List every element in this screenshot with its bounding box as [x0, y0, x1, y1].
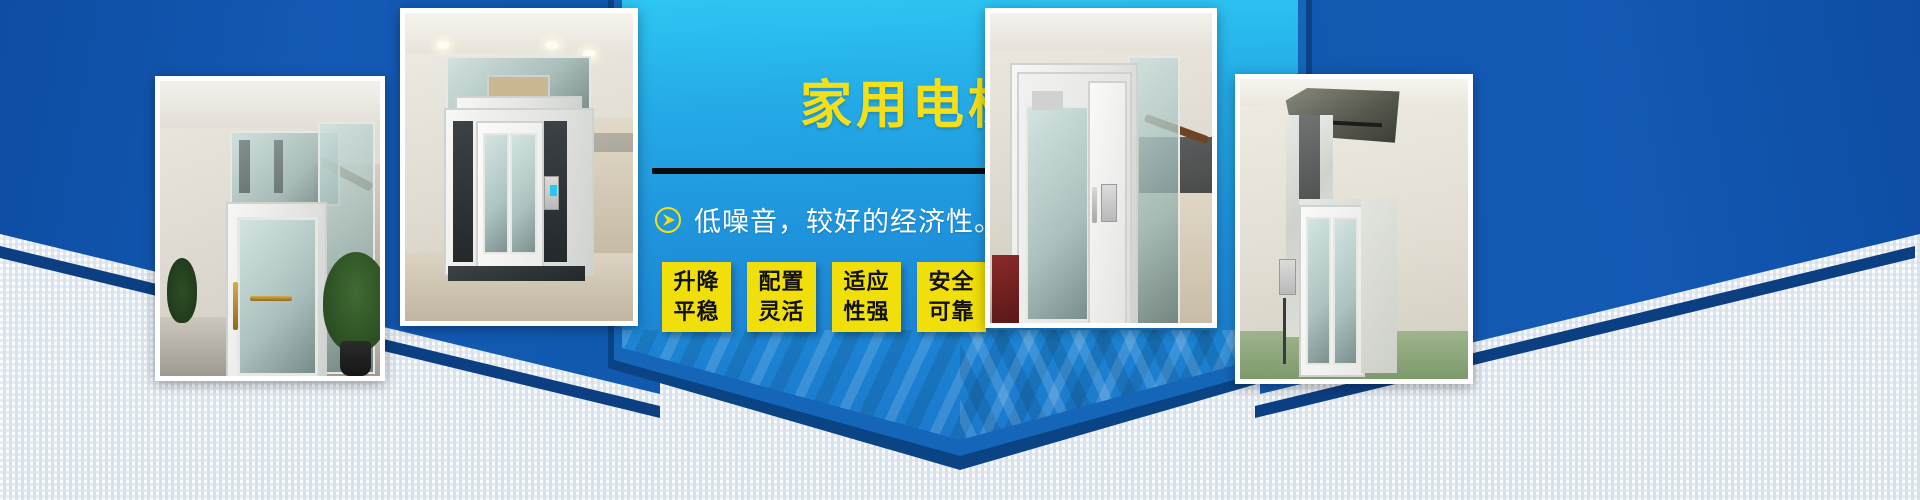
feature-tag-line1: 配置 [758, 267, 804, 297]
title-divider [652, 168, 1018, 174]
product-photo-3[interactable] [985, 8, 1217, 328]
feature-tag-line2: 平稳 [673, 297, 719, 327]
subtitle-text: 低噪音，较好的经济性。 [694, 200, 1002, 239]
feature-tag[interactable]: 安全 可靠 [917, 262, 986, 332]
feature-tag[interactable]: 适应 性强 [832, 262, 901, 332]
home-elevator-banner: 家用电梯 低噪音，较好的经济性。 升降 平稳 配置 灵活 适应 性强 [0, 0, 1920, 500]
product-photo-1-image [160, 81, 380, 376]
circle-play-arrow-icon [654, 206, 682, 234]
product-photo-3-image [990, 13, 1212, 323]
feature-tag[interactable]: 配置 灵活 [747, 262, 816, 332]
feature-tag-line1: 适应 [843, 267, 889, 297]
product-photo-4[interactable] [1235, 74, 1473, 384]
feature-tag[interactable]: 升降 平稳 [662, 262, 731, 332]
feature-tag-line2: 性强 [843, 297, 889, 327]
product-photo-2-image [405, 13, 633, 321]
feature-tag-line2: 可靠 [928, 297, 974, 327]
feature-tag-list: 升降 平稳 配置 灵活 适应 性强 安全 可靠 [662, 262, 986, 332]
product-photo-2[interactable] [400, 8, 638, 326]
product-photo-1[interactable] [155, 76, 385, 381]
subtitle-row: 低噪音，较好的经济性。 [654, 200, 1002, 239]
feature-tag-line2: 灵活 [758, 297, 804, 327]
product-photo-4-image [1240, 79, 1468, 379]
feature-tag-line1: 升降 [673, 267, 719, 297]
feature-tag-line1: 安全 [928, 267, 974, 297]
